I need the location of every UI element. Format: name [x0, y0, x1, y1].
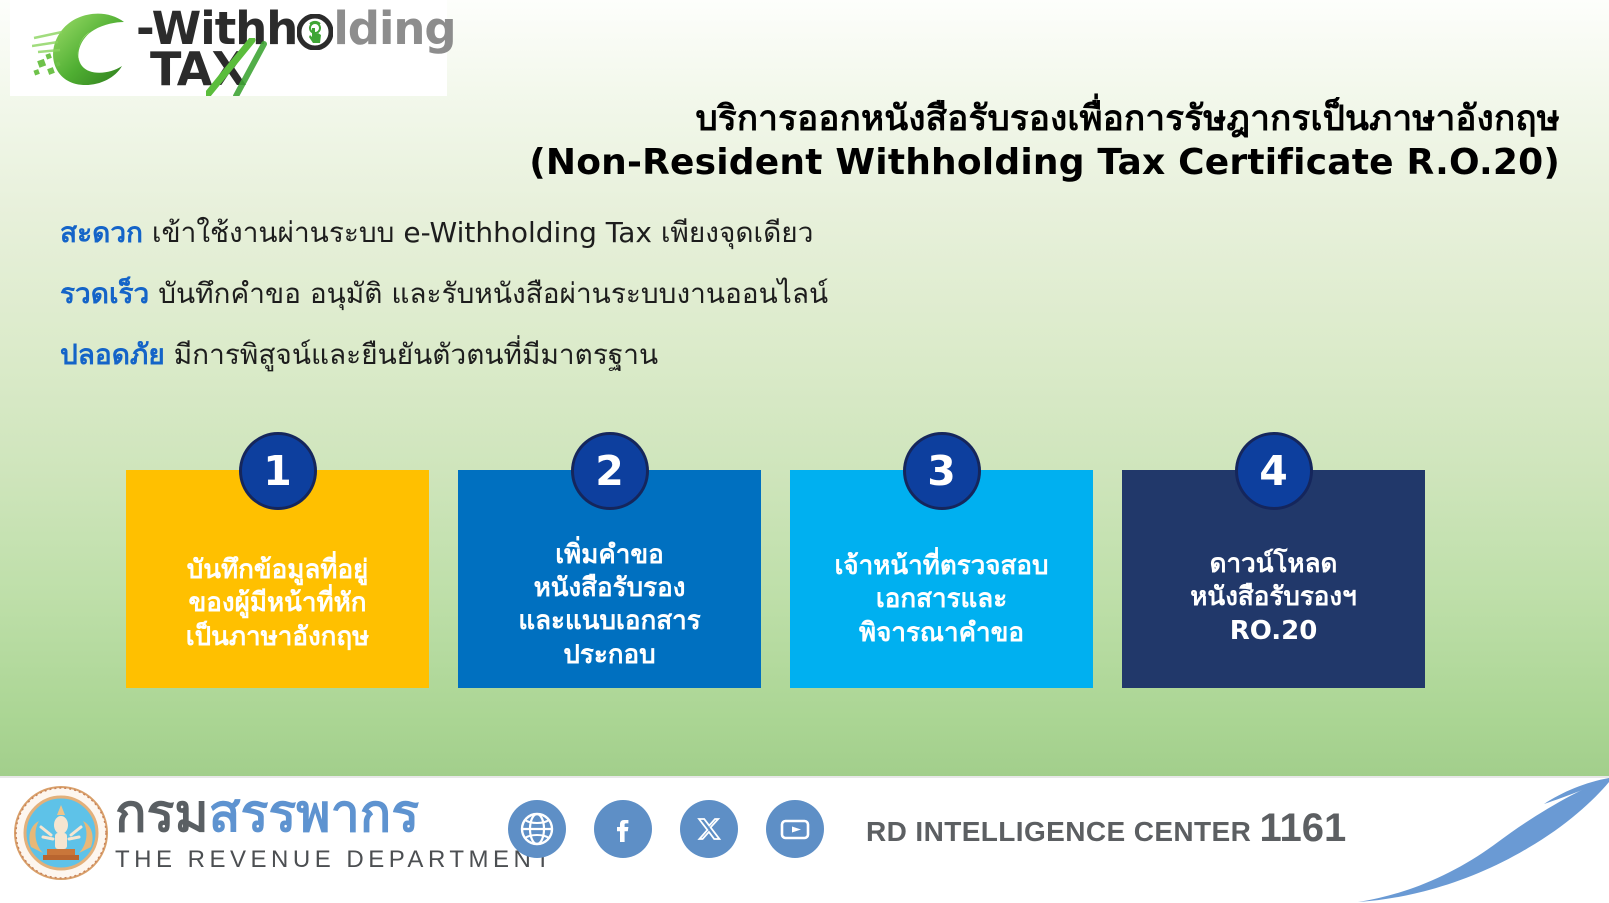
- benefit-item: สะดวก เข้าใช้งานผ่านระบบ e-Withholding T…: [60, 215, 1360, 250]
- youtube-icon[interactable]: [766, 800, 824, 858]
- benefit-text: บันทึกคำขอ อนุมัติ และรับหนังสือผ่านระบบ…: [158, 277, 828, 310]
- org-name-thai: กรมสรรพากร: [115, 788, 485, 840]
- facebook-icon[interactable]: [594, 800, 652, 858]
- org-name-thai-dark: กรม: [115, 784, 209, 844]
- step-line: เจ้าหน้าที่ตรวจสอบ: [790, 550, 1093, 583]
- step-line: เป็นภาษาอังกฤษ: [126, 621, 429, 654]
- step-line: ดาวน์โหลด: [1122, 548, 1425, 581]
- rd-intelligence-center-contact: RD INTELLIGENCE CENTER 1161: [866, 806, 1346, 851]
- step-text-4: ดาวน์โหลด หนังสือรับรองฯ RO.20: [1122, 548, 1425, 678]
- step-card-1: บันทึกข้อมูลที่อยู่ ของผู้มีหน้าที่หัก เ…: [126, 470, 429, 688]
- benefits-list: สะดวก เข้าใช้งานผ่านระบบ e-Withholding T…: [60, 215, 1360, 398]
- contact-label: RD INTELLIGENCE CENTER: [866, 816, 1251, 847]
- step-number-badge-1: 1: [239, 432, 317, 510]
- step-line: เพิ่มคำขอ: [458, 539, 761, 572]
- e-withholding-tax-logo: -Withh lding TAX: [10, 0, 447, 96]
- benefit-keyword: สะดวก: [60, 216, 143, 249]
- green-e-swoosh-icon: [32, 8, 150, 88]
- page-title-thai: บริการออกหนังสือรับรองเพื่อการรัษฎากรเป็…: [330, 98, 1560, 141]
- benefit-item: รวดเร็ว บันทึกคำขอ อนุมัติ และรับหนังสือ…: [60, 276, 1360, 311]
- step-line: บันทึกข้อมูลที่อยู่: [126, 554, 429, 587]
- website-icon[interactable]: [508, 800, 566, 858]
- process-steps: บันทึกข้อมูลที่อยู่ ของผู้มีหน้าที่หัก เ…: [0, 418, 1609, 708]
- x-twitter-icon[interactable]: [680, 800, 738, 858]
- step-line: พิจารณาคำขอ: [790, 617, 1093, 650]
- benefit-item: ปลอดภัย มีการพิสูจน์และยืนยันตัวตนที่มีม…: [60, 337, 1360, 372]
- step-card-2: เพิ่มคำขอ หนังสือรับรอง และแนบเอกสาร ประ…: [458, 470, 761, 688]
- step-line: และแนบเอกสาร: [458, 605, 761, 638]
- step-card-4: ดาวน์โหลด หนังสือรับรองฯ RO.20 4: [1122, 470, 1425, 688]
- step-line: ของผู้มีหน้าที่หัก: [126, 587, 429, 620]
- page-title: บริการออกหนังสือรับรองเพื่อการรัษฎากรเป็…: [330, 98, 1560, 185]
- step-line: RO.20: [1122, 615, 1425, 648]
- touch-pointer-o-icon: [297, 14, 333, 50]
- revenue-department-seal-icon: [13, 785, 109, 881]
- benefit-text: มีการพิสูจน์และยืนยันตัวตนที่มีมาตรฐาน: [174, 338, 658, 371]
- benefit-keyword: ปลอดภัย: [60, 338, 165, 371]
- poster-root: -Withh lding TAX บริการออกหนังสือรับรองเ…: [0, 0, 1609, 903]
- step-line: หนังสือรับรอง: [458, 572, 761, 605]
- step-line: หนังสือรับรองฯ: [1122, 581, 1425, 614]
- blue-swoosh-decoration: [1338, 778, 1609, 903]
- org-name-english: THE REVENUE DEPARTMENT: [115, 846, 485, 874]
- step-line: เอกสารและ: [790, 583, 1093, 616]
- revenue-department-wordmark: กรมสรรพากร THE REVENUE DEPARTMENT: [115, 788, 485, 874]
- step-line: ประกอบ: [458, 639, 761, 672]
- social-links: [508, 800, 824, 858]
- logo-word-part2: lding: [333, 2, 455, 55]
- step-text-3: เจ้าหน้าที่ตรวจสอบ เอกสารและ พิจารณาคำขอ: [790, 550, 1093, 678]
- step-number-badge-2: 2: [571, 432, 649, 510]
- org-name-thai-blue: สรรพากร: [209, 784, 420, 844]
- green-check-stroke-icon: [206, 38, 278, 96]
- step-card-3: เจ้าหน้าที่ตรวจสอบ เอกสารและ พิจารณาคำขอ…: [790, 470, 1093, 688]
- benefit-text: เข้าใช้งานผ่านระบบ e-Withholding Tax เพี…: [152, 216, 814, 249]
- benefit-keyword: รวดเร็ว: [60, 277, 149, 310]
- page-title-english: (Non-Resident Withholding Tax Certificat…: [330, 141, 1560, 185]
- step-number-badge-3: 3: [903, 432, 981, 510]
- step-text-2: เพิ่มคำขอ หนังสือรับรอง และแนบเอกสาร ประ…: [458, 539, 761, 678]
- step-text-1: บันทึกข้อมูลที่อยู่ ของผู้มีหน้าที่หัก เ…: [126, 554, 429, 678]
- step-number-badge-4: 4: [1235, 432, 1313, 510]
- contact-number: 1161: [1259, 806, 1346, 850]
